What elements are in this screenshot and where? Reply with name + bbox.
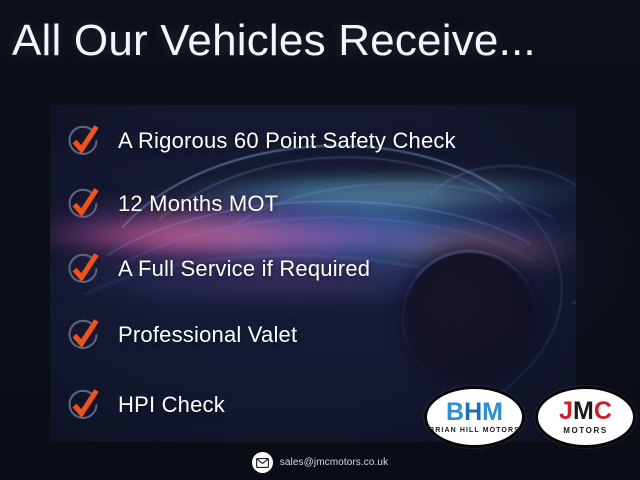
feature-row: A Rigorous 60 Point Safety Check (64, 119, 456, 163)
bhm-letter-b: B (446, 398, 464, 426)
jmc-logo: JMC MOTORS (535, 386, 636, 448)
jmc-letter-m: M (573, 397, 594, 425)
feature-label: Professional Valet (118, 322, 297, 348)
envelope-icon (252, 452, 273, 473)
check-circle-icon (64, 315, 104, 355)
feature-label: 12 Months MOT (118, 191, 278, 217)
jmc-letter-j: J (559, 397, 573, 425)
bhm-logo-subtitle: BRIAN HILL MOTORS (429, 427, 520, 434)
check-circle-icon (64, 121, 104, 161)
promo-banner: All Our Vehicles Receive... A Rigorous 6… (0, 0, 640, 480)
bhm-letter-h: H (464, 398, 482, 426)
footer-email-text[interactable]: sales@jmcmotors.co.uk (280, 457, 388, 468)
bhm-logo-letters: BHM (446, 400, 503, 425)
bhm-letter-m: M (482, 398, 503, 426)
feature-row: 12 Months MOT (64, 182, 278, 226)
check-circle-icon (64, 184, 104, 224)
check-circle-icon (64, 385, 104, 425)
feature-row: HPI Check (64, 383, 225, 427)
jmc-logo-letters: JMC (559, 399, 612, 424)
feature-row: Professional Valet (64, 313, 297, 357)
jmc-letter-c: C (594, 397, 612, 425)
feature-label: HPI Check (118, 392, 225, 418)
feature-row: A Full Service if Required (64, 247, 370, 291)
footer-contact: sales@jmcmotors.co.uk (0, 452, 640, 473)
jmc-logo-subtitle: MOTORS (563, 426, 608, 435)
dealer-logos: BHM BRIAN HILL MOTORS JMC MOTORS (424, 386, 636, 448)
feature-label: A Full Service if Required (118, 256, 370, 282)
page-title: All Our Vehicles Receive... (12, 12, 536, 70)
check-circle-icon (64, 249, 104, 289)
feature-label: A Rigorous 60 Point Safety Check (118, 128, 456, 154)
bhm-logo: BHM BRIAN HILL MOTORS (424, 386, 525, 448)
